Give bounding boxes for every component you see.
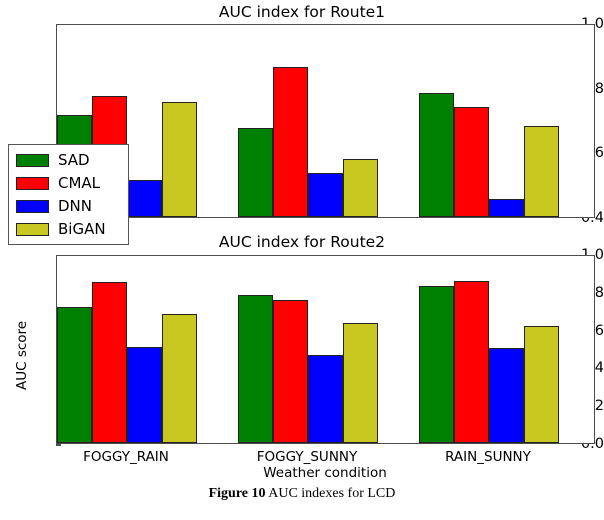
bar-dnn-foggy_rain [127, 180, 162, 217]
bar-cmal-rain_sunny [454, 281, 489, 443]
chart-title-route1: AUC index for Route1 [0, 3, 604, 21]
plot-area-route2 [56, 255, 595, 444]
legend-label: CMAL [58, 176, 100, 191]
x-tick-label: RAIN_SUNNY [445, 449, 531, 465]
bar-bigan-foggy_rain [162, 102, 197, 217]
legend: SADCMALDNNBiGAN [8, 144, 129, 245]
bar-sad-foggy_rain [57, 307, 92, 443]
legend-swatch-cmal [16, 177, 49, 190]
legend-label: DNN [58, 199, 92, 214]
bar-sad-rain_sunny [419, 93, 454, 217]
bar-sad-rain_sunny [419, 286, 454, 443]
legend-label: BiGAN [58, 222, 106, 237]
bar-dnn-foggy_rain [127, 347, 162, 443]
x-tick-label: FOGGY_SUNNY [257, 449, 358, 465]
legend-label: SAD [58, 153, 90, 168]
figure-auc-indexes-lcd: AUC index for Route1 0.40.60.81.0 AUC in… [0, 0, 604, 520]
bar-bigan-foggy_rain [162, 314, 197, 443]
legend-item-dnn[interactable]: DNN [9, 195, 128, 218]
legend-swatch-sad [16, 154, 49, 167]
legend-item-bigan[interactable]: BiGAN [9, 218, 128, 241]
bar-cmal-foggy_rain [92, 282, 127, 443]
bar-cmal-foggy_sunny [273, 300, 308, 443]
bar-dnn-rain_sunny [489, 348, 524, 443]
x-axis-label: Weather condition [263, 465, 387, 481]
bar-bigan-foggy_sunny [343, 159, 378, 217]
y-axis-label: AUC score [14, 321, 30, 390]
plot-area-route1 [56, 24, 595, 218]
figure-caption: Figure 10 AUC indexes for LCD [0, 486, 604, 502]
legend-swatch-bigan [16, 223, 49, 236]
legend-item-sad[interactable]: SAD [9, 149, 128, 172]
caption-label: Figure 10 [209, 486, 266, 501]
bar-bigan-foggy_sunny [343, 323, 378, 443]
chart-panel-route2: AUC index for Route2 0.00.20.40.60.81.0 … [0, 230, 604, 490]
bar-cmal-rain_sunny [454, 107, 489, 217]
bar-sad-foggy_sunny [238, 295, 273, 443]
bar-sad-foggy_sunny [238, 128, 273, 217]
legend-swatch-dnn [16, 200, 49, 213]
x-tick-label: FOGGY_RAIN [83, 449, 169, 465]
bar-dnn-rain_sunny [489, 199, 524, 217]
legend-item-cmal[interactable]: CMAL [9, 172, 128, 195]
bar-bigan-rain_sunny [524, 326, 559, 443]
bar-dnn-foggy_sunny [308, 355, 343, 443]
bar-bigan-rain_sunny [524, 126, 559, 217]
y-tick-mark [56, 444, 61, 446]
bar-cmal-foggy_sunny [273, 67, 308, 217]
bar-dnn-foggy_sunny [308, 173, 343, 217]
caption-text: AUC indexes for LCD [266, 486, 396, 501]
